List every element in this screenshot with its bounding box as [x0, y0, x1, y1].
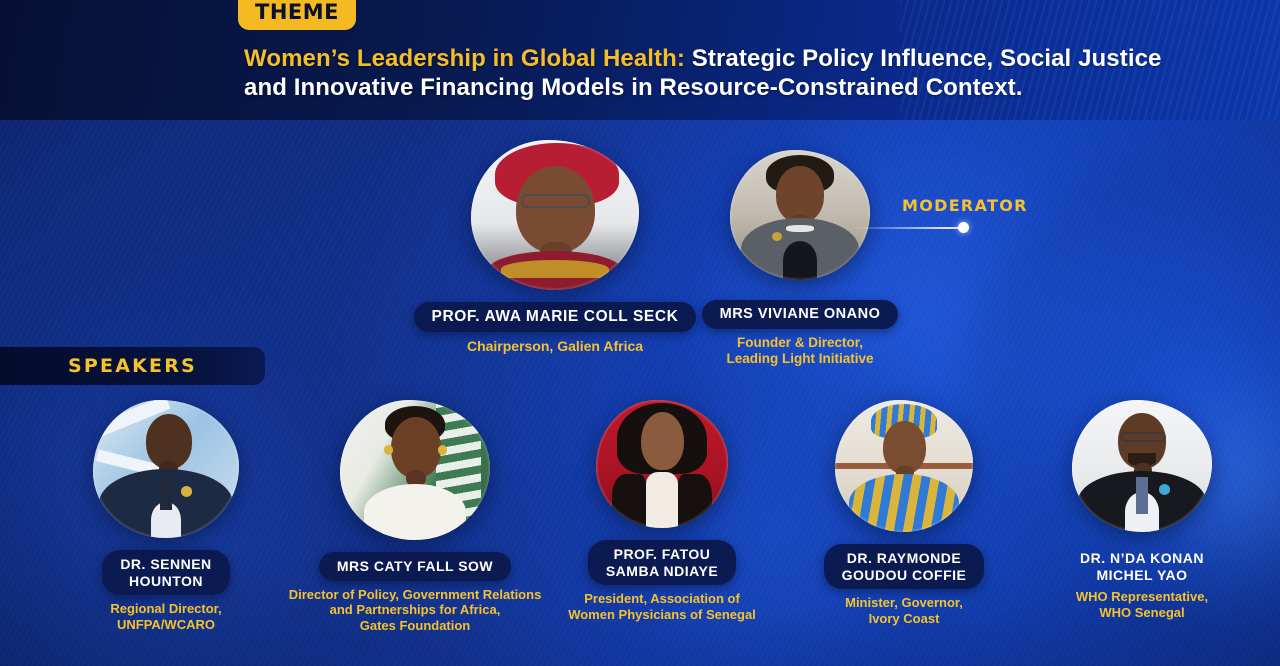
speaker-photo	[596, 400, 728, 528]
speaker-name: DR. SENNEN HOUNTON	[102, 550, 229, 595]
speaker-role-line3: Gates Foundation	[280, 618, 550, 634]
moderator-marker: MODERATOR	[860, 196, 1030, 238]
speaker-name-line1: MRS CATY FALL SOW	[337, 558, 493, 575]
speaker-portrait-image	[1072, 400, 1212, 532]
moderator-role: Founder & Director, Leading Light Initia…	[665, 335, 935, 367]
theme-badge: THEME	[238, 0, 356, 30]
chairperson-name: PROF. AWA MARIE COLL SECK	[414, 302, 697, 332]
speaker-role-line2: Ivory Coast	[790, 611, 1018, 627]
speaker-role: President, Association of Women Physicia…	[548, 591, 776, 622]
speaker-portrait-image	[340, 400, 490, 540]
speaker-role-line2: Women Physicians of Senegal	[548, 607, 776, 623]
speaker-name-line1: DR. SENNEN	[120, 556, 211, 573]
moderator-marker-label: MODERATOR	[902, 196, 1028, 215]
speaker-name-line1: DR. RAYMONDE	[842, 550, 967, 567]
speaker-card[interactable]: DR. RAYMONDE GOUDOU COFFIE Minister, Gov…	[790, 400, 1018, 626]
speaker-name-line2: GOUDOU COFFIE	[842, 567, 967, 584]
chairperson-portrait-image	[471, 140, 639, 290]
speaker-role-line1: Minister, Governor,	[790, 595, 1018, 611]
moderator-connector-line	[850, 227, 962, 229]
speaker-portrait-image	[596, 400, 728, 528]
speaker-name-line2: SAMBA NDIAYE	[606, 563, 718, 580]
speaker-role: Minister, Governor, Ivory Coast	[790, 595, 1018, 626]
speaker-role: WHO Representative, WHO Senegal	[1020, 589, 1264, 620]
moderator-role-line1: Founder & Director,	[665, 335, 935, 351]
moderator-connector-dot	[958, 222, 969, 233]
moderator-role-line2: Leading Light Initiative	[665, 351, 935, 367]
speaker-role-line2: and Partnerships for Africa,	[280, 602, 550, 618]
speaker-role: Regional Director, UNFPA/WCARO	[48, 601, 284, 632]
speaker-name: MRS CATY FALL SOW	[319, 552, 511, 581]
speaker-name-line1: DR. N’DA KONAN	[1020, 550, 1264, 567]
chairperson-card[interactable]: PROF. AWA MARIE COLL SECK Chairperson, G…	[405, 140, 705, 355]
speaker-photo	[835, 400, 973, 532]
speaker-card[interactable]: DR. N’DA KONAN MICHEL YAO WHO Representa…	[1020, 400, 1264, 620]
poster-stage: THEME Women’s Leadership in Global Healt…	[0, 0, 1280, 666]
speakers-badge: SPEAKERS	[0, 347, 265, 385]
speaker-name-line2: MICHEL YAO	[1020, 567, 1264, 584]
speaker-photo	[93, 400, 239, 538]
theme-title-highlight: Women’s Leadership in Global Health:	[244, 45, 685, 72]
speaker-role-line2: UNFPA/WCARO	[48, 617, 284, 633]
speaker-role: Director of Policy, Government Relations…	[280, 587, 550, 634]
speakers-badge-label: SPEAKERS	[68, 355, 197, 377]
moderator-card[interactable]: MRS VIVIANE ONANO Founder & Director, Le…	[665, 150, 935, 367]
speaker-name-line2: HOUNTON	[120, 573, 211, 590]
speaker-role-line1: Director of Policy, Government Relations	[280, 587, 550, 603]
speaker-name: DR. RAYMONDE GOUDOU COFFIE	[824, 544, 985, 589]
speaker-role-line1: Regional Director,	[48, 601, 284, 617]
speaker-name: PROF. FATOU SAMBA NDIAYE	[588, 540, 736, 585]
speaker-card[interactable]: DR. SENNEN HOUNTON Regional Director, UN…	[48, 400, 284, 632]
chairperson-photo	[471, 140, 639, 290]
speaker-name-line1: PROF. FATOU	[606, 546, 718, 563]
speaker-card[interactable]: MRS CATY FALL SOW Director of Policy, Go…	[280, 400, 550, 633]
speaker-role-line1: WHO Representative,	[1020, 589, 1264, 605]
speaker-photo	[340, 400, 490, 540]
speaker-card[interactable]: PROF. FATOU SAMBA NDIAYE President, Asso…	[548, 400, 776, 622]
speaker-portrait-image	[93, 400, 239, 538]
speaker-role-line1: President, Association of	[548, 591, 776, 607]
chairperson-role: Chairperson, Galien Africa	[405, 338, 705, 355]
moderator-name: MRS VIVIANE ONANO	[702, 300, 899, 329]
speaker-photo	[1072, 400, 1212, 532]
moderator-photo	[730, 150, 870, 280]
speaker-role-line2: WHO Senegal	[1020, 605, 1264, 621]
speaker-name: DR. N’DA KONAN MICHEL YAO	[1020, 550, 1264, 583]
moderator-portrait-image	[730, 150, 870, 280]
theme-title: Women’s Leadership in Global Health: Str…	[244, 44, 1204, 103]
speaker-portrait-image	[835, 400, 973, 532]
